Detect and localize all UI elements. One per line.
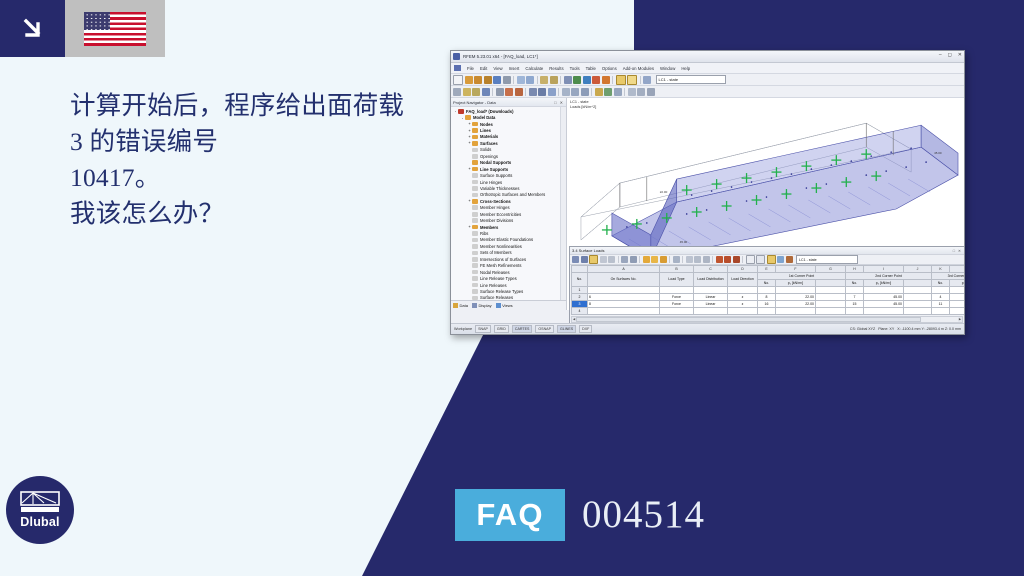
open-recent-icon[interactable] xyxy=(474,76,482,84)
tree-item-label: Variable Thicknesses xyxy=(480,186,519,191)
project-navigator[interactable]: Project Navigator - Data □ ✕ -FAQ_load* … xyxy=(451,98,567,310)
header-group-1st-corner: 1st Corner Point xyxy=(758,273,846,280)
load-case-icon[interactable] xyxy=(643,76,651,84)
header-c1-blank xyxy=(816,280,846,287)
header-c2-no: No. xyxy=(846,280,864,287)
table-cell[interactable] xyxy=(904,308,932,315)
cut-icon[interactable] xyxy=(517,76,525,84)
calculate-icon[interactable] xyxy=(573,76,581,84)
menu-item-table[interactable]: Table xyxy=(586,66,596,71)
table-cell[interactable] xyxy=(932,287,950,294)
folder-icon xyxy=(472,289,478,294)
table-cell[interactable]: 7 xyxy=(846,294,864,301)
table-export3-icon[interactable] xyxy=(733,256,740,263)
views-tab-icon xyxy=(496,303,501,308)
table-cell[interactable] xyxy=(904,294,932,301)
table-title: 3.4 Surface Loads xyxy=(572,248,604,253)
display-mesh-icon[interactable] xyxy=(604,88,612,96)
tree-item-label: FAQ_load* (Downloads) xyxy=(466,109,513,114)
table-settings1-icon[interactable] xyxy=(686,256,693,263)
table-cell[interactable]: z xyxy=(728,294,758,301)
table-body[interactable]: 126ForceLinearz822.00745.00445.0038Force… xyxy=(572,287,965,315)
rfem-application-window[interactable]: RFEM 5.23.01 x64 - [FAQ_load, LC1*] – ◻ … xyxy=(450,50,965,335)
table-cell[interactable] xyxy=(776,287,816,294)
navigator-tree[interactable]: -FAQ_load* (Downloads)-Model Data+Nodes+… xyxy=(451,107,560,300)
table-cell[interactable] xyxy=(950,308,965,315)
display-numbering-icon[interactable] xyxy=(614,88,622,96)
tree-item-label: Intersections of Surfaces xyxy=(480,257,526,262)
workplane-icon[interactable] xyxy=(647,88,655,96)
row-number-cell[interactable]: 3 xyxy=(572,301,588,308)
print-icon[interactable] xyxy=(503,76,511,84)
tree-item-label: Openings xyxy=(480,154,498,159)
table-insert-row-icon[interactable] xyxy=(581,256,588,263)
table-cell[interactable] xyxy=(816,308,846,315)
table-row[interactable]: 4 xyxy=(572,308,965,315)
col-letter-c[interactable]: C xyxy=(694,266,728,273)
folder-icon xyxy=(472,148,478,153)
col-letter-g[interactable]: G xyxy=(816,266,846,273)
folder-icon xyxy=(472,135,478,140)
new-file-icon[interactable] xyxy=(453,75,463,85)
app-icon xyxy=(453,53,460,60)
table-print-icon[interactable] xyxy=(746,255,755,264)
slide-root: 计算开始后，程序给出面荷载 3 的错误编号 10417。 我该怎么办？ Dlub… xyxy=(0,0,1024,576)
folder-icon xyxy=(472,218,478,223)
folder-icon xyxy=(472,154,478,159)
folder-icon xyxy=(472,122,478,127)
dlubal-logo-text: Dlubal xyxy=(20,515,59,529)
col-letter-e[interactable]: E xyxy=(758,266,776,273)
menu-item-edit[interactable]: Edit xyxy=(480,66,487,71)
table-window-controls[interactable]: □ ✕ xyxy=(953,249,964,253)
table-export2-icon[interactable] xyxy=(724,256,731,263)
member-tool-icon[interactable] xyxy=(496,88,504,96)
header-c3-no: No. xyxy=(932,280,950,287)
printout-icon[interactable] xyxy=(602,76,610,84)
line-tool-icon[interactable] xyxy=(472,88,480,96)
table-cell[interactable]: 11 xyxy=(932,301,950,308)
header-load-distribution: Load Distribution xyxy=(694,273,728,287)
load-case-combo[interactable]: LC1 - state xyxy=(656,75,726,85)
folder-icon xyxy=(472,160,478,165)
header-load-direction: Load Direction xyxy=(728,273,758,287)
table-row[interactable]: 38ForceLinearz1622.001545.001145.00 xyxy=(572,301,965,308)
folder-icon xyxy=(472,205,478,210)
tree-item-label: Line Hinges xyxy=(480,180,502,185)
faq-badge: FAQ xyxy=(455,489,565,541)
close-icon[interactable]: ✕ xyxy=(958,52,962,58)
table-cell[interactable] xyxy=(846,287,864,294)
tree-item-label: Member Divisions xyxy=(480,218,513,223)
folder-icon xyxy=(472,231,478,236)
table-cell[interactable]: Linear xyxy=(694,301,728,308)
table-cell[interactable]: z xyxy=(728,301,758,308)
table-toggle-icon[interactable] xyxy=(616,75,626,85)
folder-icon xyxy=(472,173,478,178)
tree-item-label: Ribs xyxy=(480,231,488,236)
grid-settings-icon[interactable] xyxy=(637,88,645,96)
results-icon[interactable] xyxy=(592,76,600,84)
hinge-tool-icon[interactable] xyxy=(515,88,523,96)
col-letter-h[interactable]: H xyxy=(846,266,864,273)
folder-icon xyxy=(472,283,478,288)
language-flag-badge xyxy=(65,0,165,57)
table-new-row-icon[interactable] xyxy=(572,256,579,263)
navigator-tab-display-label: Display xyxy=(478,303,491,308)
import-icon[interactable] xyxy=(484,76,492,84)
measure-icon[interactable] xyxy=(564,76,572,84)
zoom-window-icon[interactable] xyxy=(529,88,537,96)
table-cell[interactable] xyxy=(758,287,776,294)
header-on-surfaces: On Surfaces No. xyxy=(588,273,660,287)
dlubal-logo: Dlubal xyxy=(6,476,74,544)
table-clear-icon[interactable] xyxy=(608,256,615,263)
tree-item-label: Line Release Types xyxy=(480,276,517,281)
header-c1-p1: p₁ [kN/m²] xyxy=(776,280,816,287)
table-cell[interactable] xyxy=(816,287,846,294)
tree-item-label: Nodal Supports xyxy=(480,160,511,165)
table-edit-icon[interactable] xyxy=(589,255,598,264)
status-coordinates: X: -1100.4 mm Y: -28093.4 m Z: 0.0 mm xyxy=(897,327,961,331)
table-cell[interactable] xyxy=(728,287,758,294)
table-cell[interactable] xyxy=(816,294,846,301)
header-group-2nd-corner: 2nd Corner Point xyxy=(846,273,932,280)
table-cell[interactable] xyxy=(758,308,776,315)
save-icon[interactable] xyxy=(493,76,501,84)
table-highlight-icon[interactable] xyxy=(767,255,776,264)
annotation-load-45b: 45.00 xyxy=(934,151,942,155)
navigator-scrollbar[interactable] xyxy=(560,107,566,300)
table-column-letter-row: A B C D E F G H I J K L xyxy=(572,266,965,273)
status-toggle-snap[interactable]: SNAP xyxy=(475,325,491,333)
annotation-load-22: 22.00 xyxy=(660,190,668,194)
table-cell[interactable] xyxy=(588,287,660,294)
surface-tool-icon[interactable] xyxy=(482,88,490,96)
surface-loads-table[interactable]: A B C D E F G H I J K L xyxy=(571,265,964,315)
navigator-window-controls[interactable]: □ ✕ xyxy=(554,100,566,105)
app-toolbar-primary[interactable]: LC1 - state xyxy=(451,74,964,86)
tree-item-label: Member Elastic Foundations xyxy=(480,237,533,242)
table-settings3-icon[interactable] xyxy=(703,256,710,263)
table-cell[interactable] xyxy=(932,308,950,315)
status-toggle-osnap[interactable]: OSNAP xyxy=(535,325,554,333)
navigator-tabs[interactable]: Data Display Views xyxy=(451,300,566,310)
folder-icon xyxy=(472,263,478,268)
table-selection-icon[interactable] xyxy=(621,256,628,263)
tree-item-label: Surface Release Types xyxy=(480,289,523,294)
header-group-3rd-corner: 3rd Corner Point xyxy=(932,273,965,280)
table-cell[interactable] xyxy=(728,308,758,315)
table-settings2-icon[interactable] xyxy=(694,256,701,263)
folder-icon xyxy=(472,167,478,172)
table-group-header-row: No. On Surfaces No. Load Type Load Distr… xyxy=(572,273,965,280)
menu-item-file[interactable]: File xyxy=(467,66,474,71)
truss-structure-icon xyxy=(20,491,60,513)
navigator-tab-views-label: Views xyxy=(502,303,513,308)
table-cell[interactable]: 8 xyxy=(588,301,660,308)
tree-item-label: Member Hinges xyxy=(480,205,510,210)
open-file-icon[interactable] xyxy=(465,76,473,84)
table-refresh-icon[interactable] xyxy=(673,256,680,263)
status-coordinate-system: CS: Global XYZ xyxy=(850,327,875,331)
table-delete-row-icon[interactable] xyxy=(600,256,607,263)
folder-icon xyxy=(465,115,471,120)
table-cell[interactable] xyxy=(816,301,846,308)
table-cell[interactable]: 4 xyxy=(932,294,950,301)
render-icon[interactable] xyxy=(583,76,591,84)
table-cell[interactable]: Force xyxy=(660,294,694,301)
table-cell[interactable]: 45.00 xyxy=(864,294,904,301)
tree-item-label: Member Nonlinearities xyxy=(480,244,522,249)
menu-item-tools[interactable]: Tools xyxy=(570,66,580,71)
navigator-tab-views[interactable]: Views xyxy=(496,303,513,308)
navigator-tab-data[interactable]: Data xyxy=(453,303,468,308)
header-no: No. xyxy=(572,273,588,287)
minimize-icon[interactable]: – xyxy=(939,52,942,58)
table-filter-icon[interactable] xyxy=(630,256,637,263)
col-letter-j[interactable]: J xyxy=(904,266,932,273)
undo-icon[interactable] xyxy=(540,76,548,84)
table-help-icon[interactable] xyxy=(786,256,793,263)
table-cell[interactable] xyxy=(694,287,728,294)
table-row[interactable]: 26ForceLinearz822.00745.00445.00 xyxy=(572,294,965,301)
display-tab-icon xyxy=(472,303,477,308)
folder-icon xyxy=(472,270,478,275)
table-cell[interactable] xyxy=(904,301,932,308)
tree-item-label: Surface Supports xyxy=(480,173,512,178)
tree-item-label: Solids xyxy=(480,147,491,152)
folder-icon xyxy=(472,212,478,217)
navigator-title: Project Navigator - Data xyxy=(453,100,496,105)
col-letter-a[interactable]: A xyxy=(588,266,660,273)
table-cell[interactable] xyxy=(864,308,904,315)
folder-icon xyxy=(472,141,478,146)
header-c1-no: No. xyxy=(758,280,776,287)
tree-item-label: Nodal Releases xyxy=(480,270,510,275)
question-line-1: 计算开始后，程序给出面荷载 xyxy=(70,88,450,124)
table-cell[interactable] xyxy=(950,287,965,294)
table-cell[interactable]: 6 xyxy=(588,294,660,301)
menu-item-calculate[interactable]: Calculate xyxy=(525,66,543,71)
view-top-icon[interactable] xyxy=(571,88,579,96)
status-plane: Plane: XY xyxy=(878,327,894,331)
table-cell[interactable] xyxy=(660,287,694,294)
grid-menu-icon[interactable] xyxy=(454,65,461,71)
question-line-2: 3 的错误编号 xyxy=(70,124,450,160)
folder-icon xyxy=(472,180,478,185)
navigator-tab-display[interactable]: Display xyxy=(472,303,492,308)
table-cell[interactable]: 45.00 xyxy=(864,301,904,308)
app-statusbar: Workplane SNAP GRID CARTES OSNAP GLINES … xyxy=(451,323,964,334)
surface-loads-table-pane[interactable]: 3.4 Surface Loads □ ✕ xyxy=(569,246,964,324)
menu-item-insert[interactable]: Insert xyxy=(509,66,520,71)
table-cell[interactable] xyxy=(694,308,728,315)
view-side-icon[interactable] xyxy=(581,88,589,96)
table-info-icon[interactable] xyxy=(777,256,784,263)
question-text: 计算开始后，程序给出面荷载 3 的错误编号 10417。 我该怎么办？ xyxy=(70,88,450,232)
menu-item-results[interactable]: Results xyxy=(549,66,563,71)
col-letter-f[interactable]: F xyxy=(776,266,816,273)
tree-item-label: Surfaces xyxy=(480,141,498,146)
tree-item-label: FE Mesh Refinements xyxy=(480,263,521,268)
app-title: RFEM 5.23.01 x64 - [FAQ_load, LC1*] xyxy=(463,54,538,59)
zoom-all-icon[interactable] xyxy=(538,88,546,96)
table-cell[interactable]: 22.00 xyxy=(776,301,816,308)
col-letter-b[interactable]: B xyxy=(660,266,694,273)
folder-icon xyxy=(472,128,478,133)
table-cell[interactable] xyxy=(846,308,864,315)
menu-item-options[interactable]: Options xyxy=(602,66,617,71)
status-toggle-cartes[interactable]: CARTES xyxy=(512,325,533,333)
annotation-load-45a: 45.00 xyxy=(680,240,688,244)
menu-item-view[interactable]: View xyxy=(493,66,502,71)
folder-icon xyxy=(472,238,478,243)
arrow-down-right-icon xyxy=(18,14,48,44)
table-cell[interactable] xyxy=(864,287,904,294)
table-cell[interactable] xyxy=(588,308,660,315)
tree-item-label: Sets of Members xyxy=(480,250,512,255)
header-c3-p3: p₃ [kN/m²] xyxy=(950,280,965,287)
faq-badge-label: FAQ xyxy=(476,497,543,533)
table-cell[interactable]: 22.00 xyxy=(776,294,816,301)
table-cell[interactable]: 45.00 xyxy=(950,294,965,301)
folder-icon xyxy=(472,276,478,281)
redo-icon[interactable] xyxy=(550,76,558,84)
folder-icon xyxy=(472,257,478,262)
header-load-type: Load Type xyxy=(660,273,694,287)
header-c2-blank xyxy=(904,280,932,287)
table-preview-icon[interactable] xyxy=(756,255,765,264)
select-icon[interactable] xyxy=(453,88,461,96)
table-cell[interactable] xyxy=(660,308,694,315)
tree-item-label: Cross-Sections xyxy=(480,199,511,204)
table-cell[interactable]: 16 xyxy=(758,301,776,308)
header-c2-p2: p₂ [kN/m²] xyxy=(864,280,904,287)
table-cell[interactable]: Force xyxy=(660,301,694,308)
tree-item-label: Member Eccentricities xyxy=(480,212,521,217)
question-line-4: 我该怎么办？ xyxy=(70,196,450,232)
folder-icon xyxy=(472,186,478,191)
table-cell[interactable]: 8 xyxy=(758,294,776,301)
tree-item-label: Lines xyxy=(480,128,491,133)
table-color-a-icon[interactable] xyxy=(643,256,650,263)
col-letter-l[interactable]: L xyxy=(950,266,965,273)
copy-icon[interactable] xyxy=(526,76,534,84)
app-menubar[interactable]: File Edit View Insert Calculate Results … xyxy=(451,63,964,74)
col-letter-0 xyxy=(572,266,588,273)
support-tool-icon[interactable] xyxy=(505,88,513,96)
row-number-cell[interactable]: 2 xyxy=(572,294,588,301)
rotate-view-icon[interactable] xyxy=(548,88,556,96)
table-cell[interactable] xyxy=(776,308,816,315)
status-toggle-glines[interactable]: GLINES xyxy=(557,325,576,333)
tree-item-label: Line Supports xyxy=(480,167,508,172)
question-line-3: 10417。 xyxy=(70,160,450,196)
menu-item-window[interactable]: Window xyxy=(660,66,675,71)
table-title-bar: 3.4 Surface Loads □ ✕ xyxy=(570,247,964,255)
node-tool-icon[interactable] xyxy=(463,88,471,96)
table-color-b-icon[interactable] xyxy=(651,256,658,263)
view-front-icon[interactable] xyxy=(562,88,570,96)
folder-icon xyxy=(472,199,478,204)
menu-item-help[interactable]: Help xyxy=(681,66,690,71)
folder-icon xyxy=(472,225,478,230)
tree-item-label: Model Data xyxy=(473,115,495,120)
tree-item-label: Line Releases xyxy=(480,283,507,288)
table-toolbar[interactable]: LC1 - state xyxy=(570,255,964,265)
table-horizontal-scrollbar[interactable]: ◀ ▶ xyxy=(571,316,963,323)
panel-toggle-icon[interactable] xyxy=(627,75,637,85)
table-cell[interactable] xyxy=(904,287,932,294)
tree-item-label: Members xyxy=(480,225,498,230)
tree-item-label: Orthotropic Surfaces and Members xyxy=(480,192,545,197)
table-load-case-combo[interactable]: LC1 - state xyxy=(796,255,858,264)
app-toolbar-secondary[interactable] xyxy=(451,86,964,98)
status-toggle-grid[interactable]: GRID xyxy=(494,325,509,333)
menu-item-addon-modules[interactable]: Add-on Modules xyxy=(623,66,654,71)
col-letter-d[interactable]: D xyxy=(728,266,758,273)
tree-item-label: Nodes xyxy=(480,122,493,127)
table-color-c-icon[interactable] xyxy=(660,256,667,263)
data-tab-icon xyxy=(453,303,458,308)
window-controls[interactable]: – ◻ ✕ xyxy=(939,52,962,58)
folder-icon xyxy=(458,109,464,114)
folder-icon xyxy=(472,244,478,249)
app-titlebar: RFEM 5.23.01 x64 - [FAQ_load, LC1*] – ◻ … xyxy=(451,51,964,63)
snap-settings-icon[interactable] xyxy=(628,88,636,96)
navigator-tab-data-label: Data xyxy=(460,303,468,308)
faq-number: 004514 xyxy=(582,492,705,537)
table-export1-icon[interactable] xyxy=(716,256,723,263)
workplane-label: Workplane xyxy=(454,327,472,331)
maximize-icon[interactable]: ◻ xyxy=(948,52,952,58)
table-cell[interactable]: 45.00 xyxy=(950,301,965,308)
table-cell[interactable]: 15 xyxy=(846,301,864,308)
display-loads-icon[interactable] xyxy=(595,88,603,96)
row-number-cell[interactable]: 4 xyxy=(572,308,588,315)
status-toggle-dxf[interactable]: DXF xyxy=(579,325,592,333)
table-row[interactable]: 1 xyxy=(572,287,965,294)
row-number-cell[interactable]: 1 xyxy=(572,287,588,294)
navigator-header: Project Navigator - Data □ ✕ xyxy=(451,98,566,107)
folder-icon xyxy=(472,193,478,198)
corner-arrow-badge xyxy=(0,0,65,57)
folder-icon xyxy=(472,251,478,256)
tree-item-label: Materials xyxy=(480,134,498,139)
us-flag-icon xyxy=(84,12,146,46)
col-letter-k[interactable]: K xyxy=(932,266,950,273)
col-letter-i[interactable]: I xyxy=(864,266,904,273)
table-cell[interactable]: Linear xyxy=(694,294,728,301)
